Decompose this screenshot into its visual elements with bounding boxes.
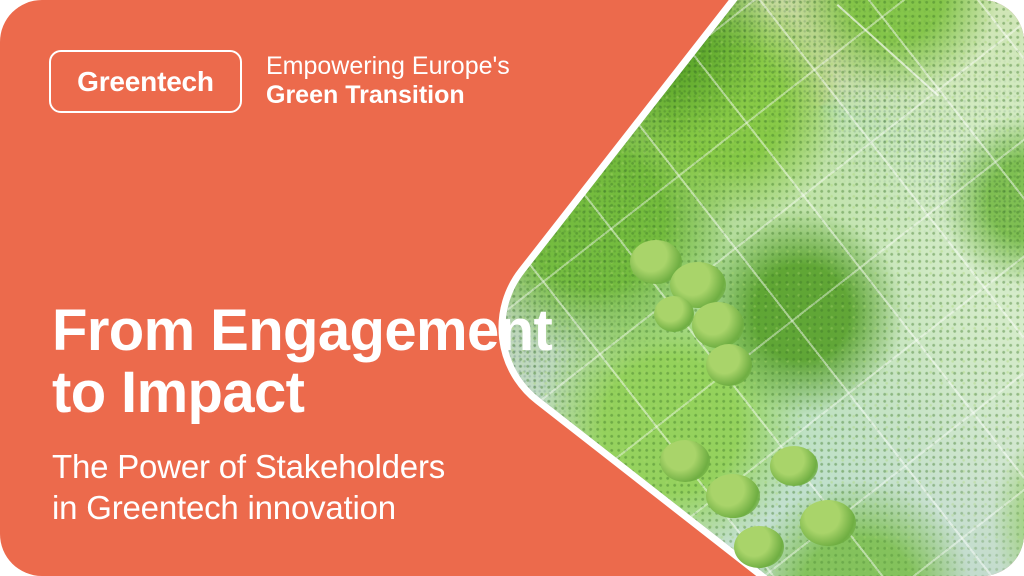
hero-copy: From Engagement to Impact The Power of S…	[52, 300, 572, 529]
foliage-spill-top	[690, 18, 950, 188]
page-subtitle: The Power of Stakeholders in Greentech i…	[52, 446, 572, 529]
brand-logo[interactable]: Greentech	[49, 50, 242, 113]
brand-tagline-line1: Empowering Europe's	[266, 52, 510, 81]
page-title: From Engagement to Impact	[52, 300, 572, 424]
header: Greentech Empowering Europe's Green Tran…	[49, 50, 510, 113]
foliage-spill-bottom	[650, 430, 880, 576]
brand-logo-label: Greentech	[77, 68, 214, 96]
brand-tagline-line2: Green Transition	[266, 81, 510, 110]
orange-background-card: Greentech Empowering Europe's Green Tran…	[0, 0, 1024, 576]
guide-line-top	[837, 4, 939, 96]
foliage-spill-left	[596, 240, 746, 430]
brand-tagline: Empowering Europe's Green Transition	[266, 52, 510, 112]
slide-root: Greentech Empowering Europe's Green Tran…	[0, 0, 1024, 576]
